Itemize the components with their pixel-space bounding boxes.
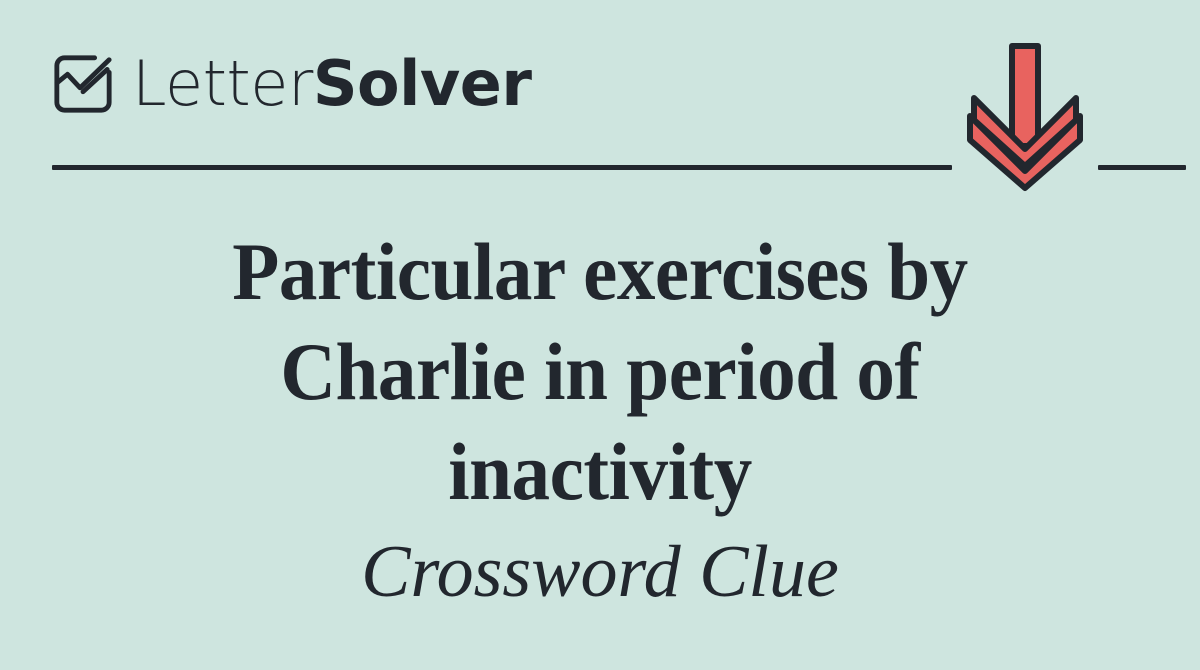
divider-right-segment — [1098, 165, 1186, 170]
divider-left-segment — [52, 165, 952, 170]
page-root: LetterSolver Particular exercises by Cha… — [0, 0, 1200, 670]
arrow-down-icon — [960, 40, 1090, 192]
clue-block: Particular exercises by Charlie in perio… — [0, 222, 1200, 618]
brand-word-letter: Letter — [132, 53, 313, 115]
brand-logo[interactable]: LetterSolver — [52, 38, 531, 130]
page-title: Particular exercises by Charlie in perio… — [36, 222, 1164, 522]
checkbox-check-icon — [52, 53, 114, 115]
page-subtitle: Crossword Clue — [0, 526, 1200, 618]
brand-wordmark: LetterSolver — [132, 53, 531, 115]
brand-word-solver: Solver — [313, 53, 532, 115]
